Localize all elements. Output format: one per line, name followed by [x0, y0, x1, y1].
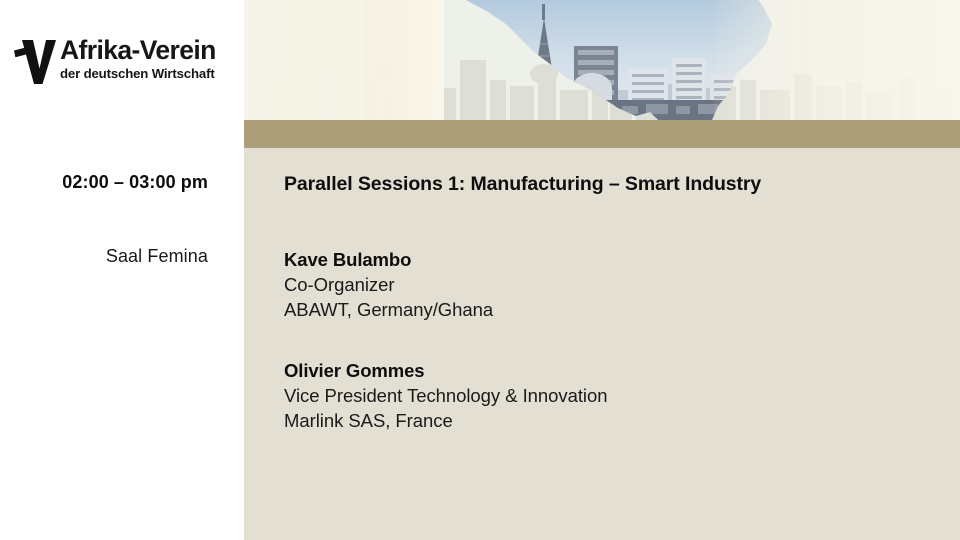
afrika-verein-logo: Afrika-Verein der deutschen Wirtschaft: [14, 36, 230, 90]
speaker-block: Olivier Gommes Vice President Technology…: [284, 358, 944, 433]
logo-title: Afrika-Verein: [60, 36, 232, 65]
session-content: Parallel Sessions 1: Manufacturing – Sma…: [284, 148, 944, 433]
afrika-verein-wordmark: Afrika-Verein der deutschen Wirtschaft: [60, 36, 232, 82]
presentation-slide: Parallel Sessions 1: Manufacturing – Sma…: [0, 0, 960, 540]
gold-accent-band: [244, 120, 960, 148]
speaker-organization: ABAWT, Germany/Ghana: [284, 297, 944, 322]
speaker-role: Co-Organizer: [284, 272, 944, 297]
session-title: Parallel Sessions 1: Manufacturing – Sma…: [284, 172, 944, 196]
speaker-block: Kave Bulambo Co-Organizer ABAWT, Germany…: [284, 247, 944, 322]
afrika-verein-v-mark-icon: [14, 38, 56, 84]
cityscape-graphic: [244, 0, 960, 120]
left-info-column: Afrika-Verein der deutschen Wirtschaft 0…: [0, 0, 244, 540]
speaker-role: Vice President Technology & Innovation: [284, 383, 944, 408]
session-room: Saal Femina: [0, 246, 208, 267]
speaker-organization: Marlink SAS, France: [284, 408, 944, 433]
speaker-name: Olivier Gommes: [284, 358, 944, 383]
speaker-name: Kave Bulambo: [284, 247, 944, 272]
right-content-panel: Parallel Sessions 1: Manufacturing – Sma…: [244, 0, 960, 540]
session-time: 02:00 – 03:00 pm: [0, 172, 208, 193]
header-banner-image: [244, 0, 960, 120]
logo-subtitle: der deutschen Wirtschaft: [60, 66, 232, 82]
